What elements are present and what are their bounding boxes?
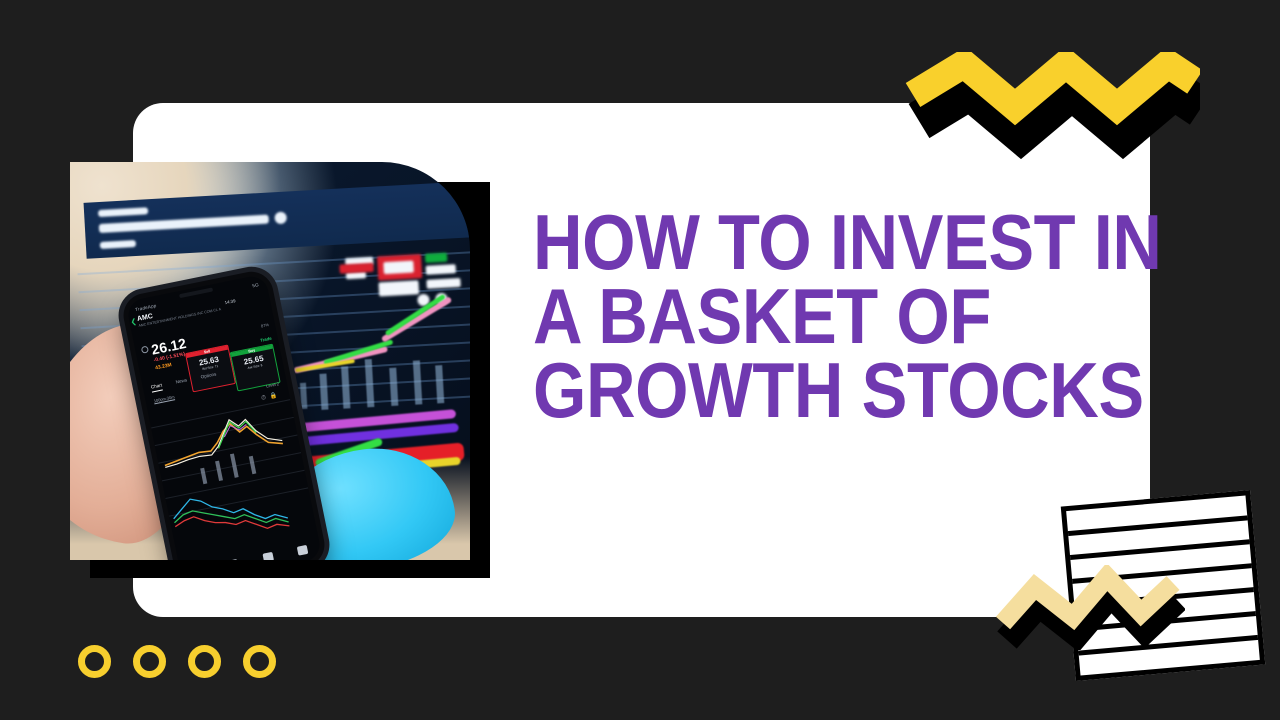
status-carrier: TradeApp: [135, 303, 157, 312]
zigzag-decoration-bottom: [995, 565, 1185, 650]
tab-news[interactable]: News: [175, 377, 188, 387]
nav-icon-more[interactable]: [297, 544, 309, 555]
range-selector[interactable]: 100pm:30m: [153, 394, 175, 403]
trade-link[interactable]: Trade: [260, 336, 272, 343]
hero-photo: TradeApp 5G ❮ AMC AMC ENTERTAINMENT HOLD…: [70, 162, 470, 560]
title-line-3: GROWTH STOCKS: [533, 353, 1070, 427]
photo-background: TradeApp 5G ❮ AMC AMC ENTERTAINMENT HOLD…: [70, 162, 470, 560]
dot-row-decoration: [78, 645, 276, 678]
dot-1: [78, 645, 111, 678]
poster-canvas: TradeApp 5G ❮ AMC AMC ENTERTAINMENT HOLD…: [0, 0, 1280, 720]
zigzag-shadow: [919, 90, 1200, 133]
phone-price-chart: [151, 397, 323, 560]
zigzag-decoration-top: [900, 52, 1200, 172]
dot-2: [133, 645, 166, 678]
nav-icon-news[interactable]: [262, 551, 274, 560]
dot-3: [188, 645, 221, 678]
title-line-1: HOW TO INVEST IN: [533, 205, 1070, 279]
page-title: HOW TO INVEST IN A BASKET OF GROWTH STOC…: [533, 205, 1070, 427]
volume-change: 43.23M: [155, 362, 173, 371]
clock-icon: [141, 346, 149, 354]
level2-label[interactable]: Level 2: [266, 381, 280, 388]
tab-chart[interactable]: Chart: [151, 383, 164, 393]
title-line-2: A BASKET OF: [533, 279, 1070, 353]
nav-icon-portfolio[interactable]: [227, 558, 239, 560]
battery-label: 87%: [261, 322, 270, 328]
status-network: 5G: [252, 282, 259, 288]
dot-4: [243, 645, 276, 678]
